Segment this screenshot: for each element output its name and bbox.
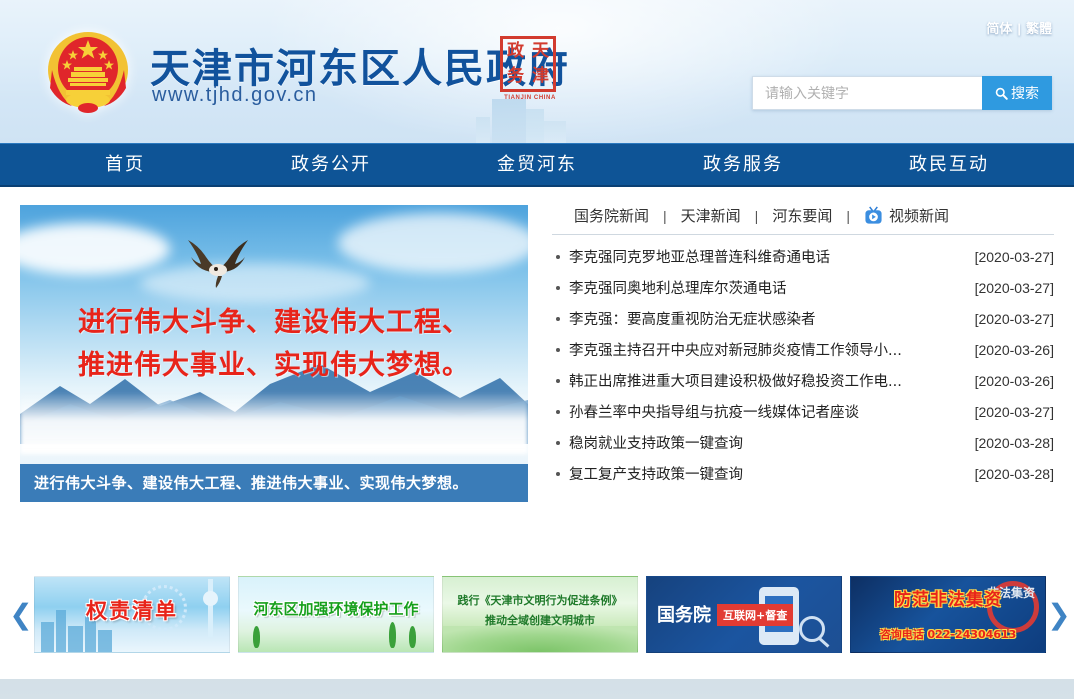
bullet-icon (556, 286, 560, 290)
search-icon (995, 87, 1008, 100)
news-list-item[interactable]: 稳岗就业支持政策一键查询 [2020-03-28] (552, 427, 1054, 458)
seal-char-2: 天 (528, 39, 553, 64)
nav-item-commerce[interactable]: 金贸河东 (434, 144, 640, 185)
bullet-icon (556, 410, 560, 414)
banner-carousel: ❮ 权责清单 河东区加强环境保护工作 践行《天津市文明行为促进条例》 (0, 576, 1074, 653)
news-title: 孙春兰率中央指导组与抗疫一线媒体记者座谈 (569, 401, 975, 422)
search-box: 搜索 (752, 76, 1052, 110)
news-date: [2020-03-27] (975, 249, 1054, 265)
slide-sublabel: 互联网+督查 (717, 604, 793, 626)
search-button[interactable]: 搜索 (982, 76, 1052, 110)
news-date: [2020-03-26] (975, 373, 1054, 389)
slide-label: 权责清单 (35, 599, 229, 623)
news-title: 李克强同克罗地亚总理普连科维奇通电话 (569, 246, 975, 267)
carousel-next-icon[interactable]: ❯ (1046, 601, 1072, 629)
bullet-icon (556, 317, 560, 321)
hero-banner[interactable]: 进行伟大斗争、建设伟大工程、 推进伟大事业、实现伟大梦想。 进行伟大斗争、建设伟… (20, 205, 528, 502)
eagle-icon (172, 231, 264, 289)
news-title: 复工复产支持政策一键查询 (569, 463, 975, 484)
news-list-item[interactable]: 李克强主持召开中央应对新冠肺炎疫情工作领导小... [2020-03-26] (552, 334, 1054, 365)
cloud-shape (338, 213, 528, 273)
news-panel: 国务院新闻 | 天津新闻 | 河东要闻 | (552, 205, 1054, 502)
slide-sublabel: 咨询电话 022-24304613 (851, 626, 1045, 642)
news-list: 李克强同克罗地亚总理普连科维奇通电话 [2020-03-27] 李克强同奥地利总… (552, 241, 1054, 489)
slide-label: 践行《天津市文明行为促进条例》 (443, 593, 637, 610)
news-date: [2020-03-27] (975, 280, 1054, 296)
tab-label: 天津新闻 (681, 205, 741, 226)
news-list-item[interactable]: 李克强：要高度重视防治无症状感染者 [2020-03-27] (552, 303, 1054, 334)
main-navigation: 首页 政务公开 金贸河东 政务服务 政民互动 (0, 143, 1074, 187)
nav-item-home[interactable]: 首页 (22, 144, 228, 185)
language-switcher: 简体|繁體 (986, 18, 1052, 37)
main-content: 进行伟大斗争、建设伟大工程、 推进伟大事业、实现伟大梦想。 进行伟大斗争、建设伟… (0, 187, 1074, 679)
news-title: 李克强同奥地利总理库尔茨通电话 (569, 277, 975, 298)
news-list-item[interactable]: 李克强同克罗地亚总理普连科维奇通电话 [2020-03-27] (552, 241, 1054, 272)
carousel-slide-quanze-qingdan[interactable]: 权责清单 (34, 576, 230, 653)
tianjin-government-seal: 政 天 务 津 TIANJIN CHINA (500, 36, 560, 108)
seal-caption: TIANJIN CHINA (500, 95, 560, 101)
news-title: 李克强主持召开中央应对新冠肺炎疫情工作领导小... (569, 339, 975, 360)
news-title: 李克强：要高度重视防治无症状感染者 (569, 308, 975, 329)
lang-separator: | (1017, 21, 1021, 36)
banner-slogan: 进行伟大斗争、建设伟大工程、 推进伟大事业、实现伟大梦想。 (20, 301, 528, 387)
carousel-slides: 权责清单 河东区加强环境保护工作 践行《天津市文明行为促进条例》 推动全域创建文… (34, 576, 1046, 653)
carousel-prev-icon[interactable]: ❮ (8, 601, 34, 629)
news-title: 韩正出席推进重大项目建设积极做好稳投资工作电... (569, 370, 975, 391)
banner-slogan-line1: 进行伟大斗争、建设伟大工程、 (20, 301, 528, 344)
tv-video-icon (864, 206, 883, 225)
bullet-icon (556, 255, 560, 259)
tab-state-council-news[interactable]: 国务院新闻 (552, 205, 663, 226)
slide-label: 河东区加强环境保护工作 (239, 601, 433, 618)
carousel-slide-environment[interactable]: 河东区加强环境保护工作 (238, 576, 434, 653)
news-date: [2020-03-28] (975, 466, 1054, 482)
banner-slogan-line2: 推进伟大事业、实现伟大梦想。 (20, 344, 528, 387)
carousel-slide-civilized-city[interactable]: 践行《天津市文明行为促进条例》 推动全域创建文明城市 (442, 576, 638, 653)
tab-label: 视频新闻 (889, 205, 949, 226)
news-date: [2020-03-27] (975, 404, 1054, 420)
carousel-slide-state-council-supervision[interactable]: 国务院 互联网+督查 (646, 576, 842, 653)
news-list-item[interactable]: 孙春兰率中央指导组与抗疫一线媒体记者座谈 [2020-03-27] (552, 396, 1054, 427)
search-button-label: 搜索 (1011, 83, 1039, 103)
carousel-slide-illegal-fundraising[interactable]: 非法集资 防范非法集资 咨询电话 022-24304613 (850, 576, 1046, 653)
bullet-icon (556, 472, 560, 476)
news-list-item[interactable]: 李克强同奥地利总理库尔茨通电话 [2020-03-27] (552, 272, 1054, 303)
national-emblem (40, 26, 136, 122)
site-header: 天津市河东区人民政府 www.tjhd.gov.cn 政 天 务 津 TIANJ… (0, 0, 1074, 143)
news-list-item[interactable]: 复工复产支持政策一键查询 [2020-03-28] (552, 458, 1054, 489)
tab-label: 河东要闻 (772, 205, 832, 226)
tab-video-news[interactable]: 视频新闻 (850, 205, 963, 226)
tab-hedong-news[interactable]: 河东要闻 (758, 205, 846, 226)
banner-caption[interactable]: 进行伟大斗争、建设伟大工程、推进伟大事业、实现伟大梦想。 (20, 464, 528, 502)
news-title: 稳岗就业支持政策一键查询 (569, 432, 975, 453)
news-date: [2020-03-26] (975, 342, 1054, 358)
news-date: [2020-03-27] (975, 311, 1054, 327)
seal-char-1: 政 (503, 39, 528, 64)
news-date: [2020-03-28] (975, 435, 1054, 451)
site-url: www.tjhd.gov.cn (152, 84, 318, 107)
seal-char-3: 务 (503, 64, 528, 89)
seal-char-4: 津 (528, 64, 553, 89)
bullet-icon (556, 441, 560, 445)
cloud-sea (20, 392, 528, 454)
tab-label: 国务院新闻 (574, 205, 649, 226)
slide-label: 防范非法集资 (851, 591, 1045, 611)
bullet-icon (556, 379, 560, 383)
news-list-item[interactable]: 韩正出席推进重大项目建设积极做好稳投资工作电... [2020-03-26] (552, 365, 1054, 396)
lang-traditional[interactable]: 繁體 (1026, 21, 1052, 36)
tab-tianjin-news[interactable]: 天津新闻 (667, 205, 755, 226)
search-input[interactable] (752, 76, 982, 110)
nav-item-interaction[interactable]: 政民互动 (846, 144, 1052, 185)
slide-label: 国务院 (657, 601, 711, 627)
news-tab-bar: 国务院新闻 | 天津新闻 | 河东要闻 | (552, 205, 1054, 235)
nav-item-affairs[interactable]: 政务公开 (228, 144, 434, 185)
nav-item-services[interactable]: 政务服务 (640, 144, 846, 185)
bullet-icon (556, 348, 560, 352)
slide-sublabel: 推动全域创建文明城市 (443, 613, 637, 630)
lang-simplified[interactable]: 简体 (986, 21, 1012, 36)
